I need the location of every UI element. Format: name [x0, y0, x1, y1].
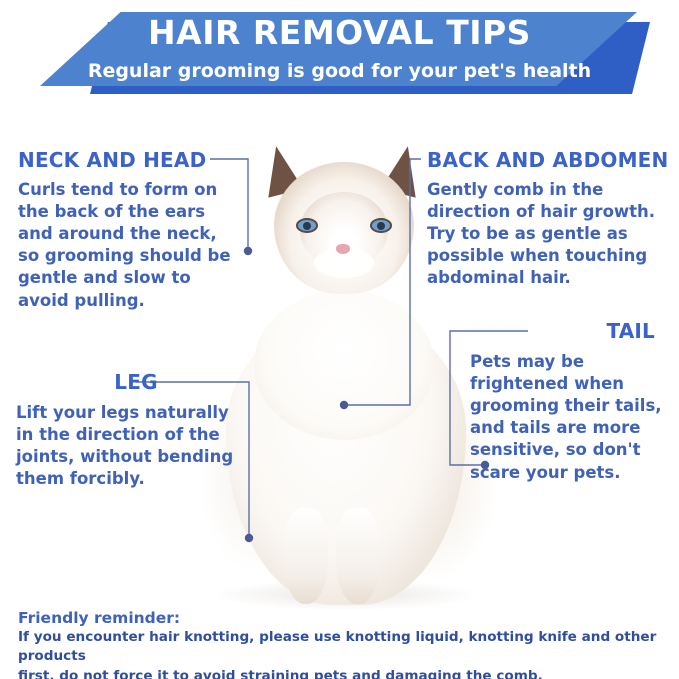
- callout-back-title: BACK AND ABDOMEN: [427, 150, 677, 170]
- callout-tail: TAIL Pets may be frightened when groomin…: [470, 321, 675, 484]
- callout-tail-title: TAIL: [530, 321, 655, 341]
- header-banner: HAIR REMOVAL TIPS Regular grooming is go…: [0, 0, 679, 105]
- callout-back-and-abdomen: BACK AND ABDOMEN Gently comb in the dire…: [427, 150, 677, 290]
- cat-pupil-right: [377, 222, 385, 230]
- page-title: HAIR REMOVAL TIPS: [0, 16, 679, 49]
- callout-tail-body: Pets may be frightened when grooming the…: [470, 351, 675, 484]
- page-subtitle: Regular grooming is good for your pet's …: [0, 62, 679, 81]
- cat-eye-left: [296, 218, 318, 233]
- callout-leg: LEG Lift your legs naturally in the dire…: [16, 372, 236, 490]
- callout-leg-body: Lift your legs naturally in the directio…: [16, 402, 236, 490]
- cat-neck-ruff: [254, 290, 434, 440]
- callout-neck-title: NECK AND HEAD: [18, 150, 233, 170]
- cat-front-leg-right: [336, 508, 380, 604]
- callout-leg-title: LEG: [80, 372, 192, 392]
- cat-eye-right: [370, 218, 392, 233]
- friendly-reminder: Friendly reminder: If you encounter hair…: [18, 608, 658, 679]
- friendly-reminder-title: Friendly reminder:: [18, 608, 658, 628]
- infographic-poster: HAIR REMOVAL TIPS Regular grooming is go…: [0, 0, 679, 679]
- cat-front-leg-left: [284, 508, 328, 604]
- callout-neck-body: Curls tend to form on the back of the ea…: [18, 179, 233, 312]
- callout-neck-and-head: NECK AND HEAD Curls tend to form on the …: [18, 150, 233, 312]
- cat-pupil-left: [303, 222, 311, 230]
- callout-back-body: Gently comb in the direction of hair gro…: [427, 179, 677, 290]
- friendly-reminder-line-1: If you encounter hair knotting, please u…: [18, 628, 658, 667]
- cat-nose: [336, 244, 350, 254]
- friendly-reminder-line-2: first, do not force it to avoid strainin…: [18, 667, 658, 679]
